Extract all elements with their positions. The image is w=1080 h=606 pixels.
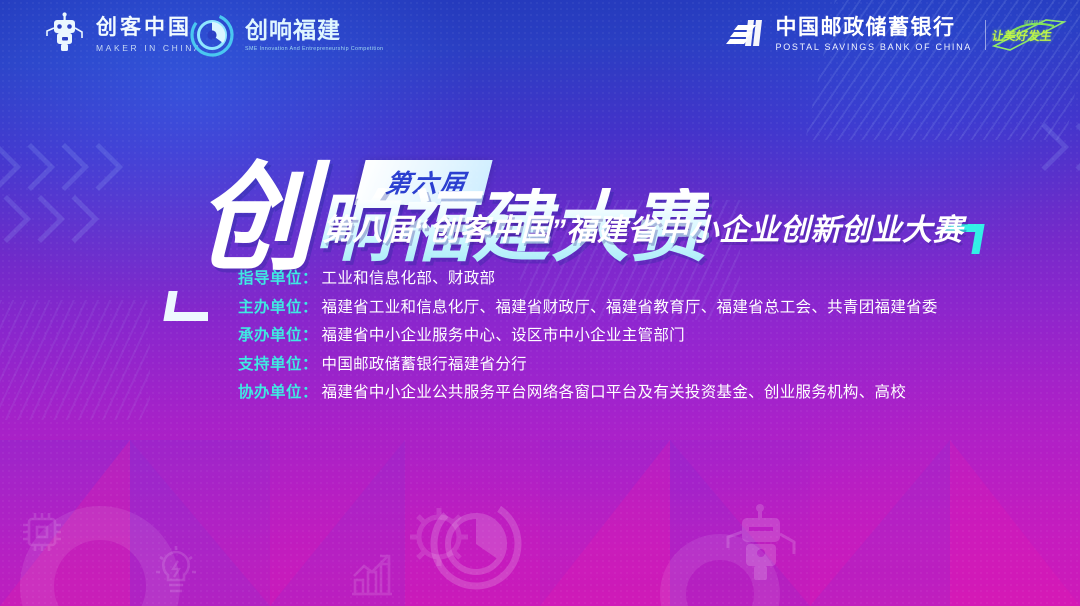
- psbc-text: 中国邮政储蓄银行 POSTAL SAVINGS BANK OF CHINA: [776, 16, 972, 52]
- bottom-decoration-band: [0, 440, 1080, 606]
- organizer-colon: ：: [302, 380, 318, 402]
- bottom-triangle: [950, 440, 1080, 606]
- maker-robot-icon: [42, 12, 88, 58]
- chip-icon: [20, 510, 64, 554]
- maker-in-china-text: 创客中国 MAKER IN CHINA: [96, 17, 202, 52]
- organizer-value: 福建省工业和信息化厅、福建省财政厅、福建省教育厅、福建省总工会、共青团福建省委: [322, 295, 938, 317]
- page-subtitle: 第八届“创客中国”福建省中小企业创新创业大赛: [322, 205, 963, 249]
- hatch-streak-left: [0, 300, 150, 420]
- organizer-colon: ：: [302, 295, 318, 317]
- page-title-first-char: 创: [196, 168, 310, 272]
- logo-slogan: 邮储银行 让美好发生: [984, 16, 1068, 54]
- corner-bracket-bottom-left-icon: [166, 291, 208, 321]
- logo-chuangxiang-fujian: 创响福建 SME Innovation And Entrepreneurship…: [188, 12, 383, 58]
- bottom-triangle: [810, 440, 950, 606]
- organizer-colon: ：: [302, 266, 318, 288]
- organizer-label: 协办单位: [238, 380, 302, 402]
- header-logo-bar: 创客中国 MAKER IN CHINA 创响福建 SME Innovation …: [0, 0, 1080, 72]
- organizer-list: 指导单位 ： 工业和信息化部、财政部 主办单位 ： 福建省工业和信息化厅、福建省…: [238, 266, 1038, 409]
- organizer-label: 主办单位: [238, 295, 302, 317]
- slogan-sub: 邮储银行: [1024, 20, 1044, 26]
- chuangxiang-fujian-cn: 创响福建: [245, 18, 383, 42]
- organizer-colon: ：: [302, 323, 318, 345]
- logo-maker-in-china: 创客中国 MAKER IN CHINA: [42, 12, 202, 58]
- psbc-en: POSTAL SAVINGS BANK OF CHINA: [776, 42, 972, 52]
- organizer-value: 福建省中小企业服务中心、设区市中小企业主管部门: [322, 323, 685, 345]
- organizer-value: 福建省中小企业公共服务平台网络各窗口平台及有关投资基金、创业服务机构、高校: [322, 380, 907, 402]
- psbc-cn: 中国邮政储蓄银行: [776, 16, 972, 39]
- maker-in-china-cn: 创客中国: [96, 17, 202, 39]
- chuangxiang-fujian-text: 创响福建 SME Innovation And Entrepreneurship…: [245, 18, 383, 51]
- organizer-row: 承办单位 ： 福建省中小企业服务中心、设区市中小企业主管部门: [238, 323, 1038, 345]
- chuangxiang-fujian-en: SME Innovation And Entrepreneurship Comp…: [245, 46, 383, 52]
- organizer-label: 承办单位: [238, 323, 302, 345]
- maker-in-china-en: MAKER IN CHINA: [96, 43, 202, 53]
- organizer-row: 支持单位 ： 中国邮政储蓄银行福建省分行: [238, 352, 1038, 374]
- organizer-value: 中国邮政储蓄银行福建省分行: [322, 352, 527, 374]
- organizer-row: 指导单位 ： 工业和信息化部、财政部: [238, 266, 1038, 288]
- slogan-text: 让美好发生: [991, 27, 1054, 44]
- lightbulb-icon: [152, 544, 200, 600]
- organizer-label: 指导单位: [238, 266, 302, 288]
- bottom-triangle: [540, 440, 670, 606]
- gear-icon: [404, 502, 474, 572]
- robot-icon: [722, 504, 800, 588]
- organizer-row: 协办单位 ： 福建省中小企业公共服务平台网络各窗口平台及有关投资基金、创业服务机…: [238, 380, 1038, 402]
- logo-psbc: 中国邮政储蓄银行 POSTAL SAVINGS BANK OF CHINA: [726, 16, 972, 52]
- psbc-mark-icon: [726, 17, 766, 51]
- organizer-colon: ：: [302, 352, 318, 374]
- organizer-row: 主办单位 ： 福建省工业和信息化厅、福建省财政厅、福建省教育厅、福建省总工会、共…: [238, 295, 1038, 317]
- bar-chart-icon: [348, 550, 396, 598]
- swirl-icon: [188, 12, 236, 58]
- poster-root: 创客中国 MAKER IN CHINA 创响福建 SME Innovation …: [0, 0, 1080, 606]
- organizer-value: 工业和信息化部、财政部: [322, 266, 496, 288]
- organizer-label: 支持单位: [238, 352, 302, 374]
